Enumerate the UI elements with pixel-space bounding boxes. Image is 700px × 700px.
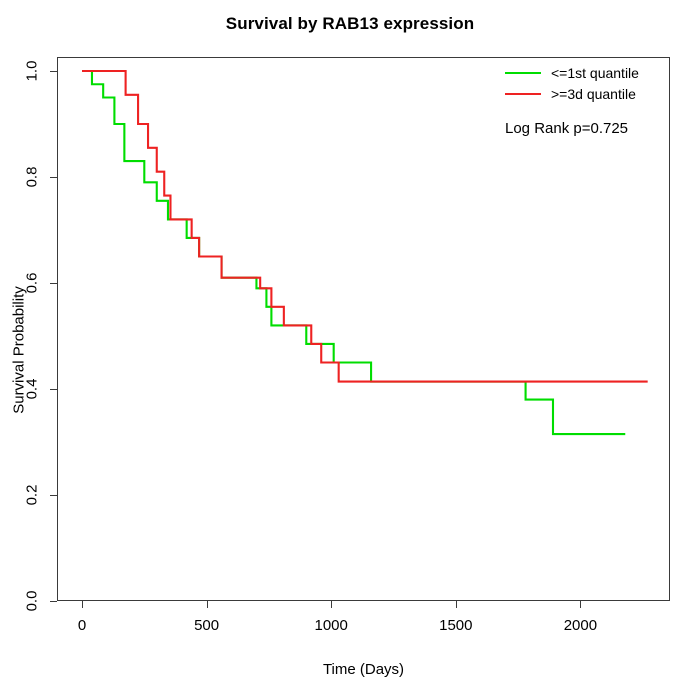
y-tick-label: 0.6 [24,273,41,294]
curve-high-expression [82,71,648,382]
y-tick-label: 0.2 [24,485,41,506]
y-axis-label-wrapper: Survival Probability [0,0,26,700]
y-axis-label: Survival Probability [11,230,28,470]
x-tick-label: 0 [78,617,86,634]
y-tick-mark [50,283,57,284]
x-tick-mark [580,601,581,608]
y-tick-mark [50,601,57,602]
legend-item: >=3d quantile [505,83,639,104]
page-title: Survival by RAB13 expression [0,14,700,34]
x-tick-label: 1000 [315,617,348,634]
legend-line-swatch [505,93,541,95]
logrank-annotation: Log Rank p=0.725 [505,120,628,137]
x-tick-label: 2000 [564,617,597,634]
legend-label: <=1st quantile [551,65,639,81]
x-tick-mark [331,601,332,608]
y-tick-label: 0.4 [24,379,41,400]
x-axis-label: Time (Days) [57,661,670,678]
x-tick-label: 500 [194,617,219,634]
plot-area [57,57,670,601]
y-tick-mark [50,177,57,178]
legend: <=1st quantile>=3d quantile [505,62,639,104]
y-tick-label: 0.8 [24,167,41,188]
y-tick-label: 0.0 [24,591,41,612]
x-tick-mark [207,601,208,608]
survival-curves [57,57,670,601]
y-tick-label: 1.0 [24,61,41,82]
y-tick-mark [50,389,57,390]
x-tick-mark [82,601,83,608]
legend-line-swatch [505,72,541,74]
y-tick-mark [50,495,57,496]
y-tick-mark [50,71,57,72]
x-tick-label: 1500 [439,617,472,634]
survival-chart: Survival by RAB13 expression Survival Pr… [0,0,700,700]
legend-label: >=3d quantile [551,86,636,102]
x-tick-mark [456,601,457,608]
legend-item: <=1st quantile [505,62,639,83]
